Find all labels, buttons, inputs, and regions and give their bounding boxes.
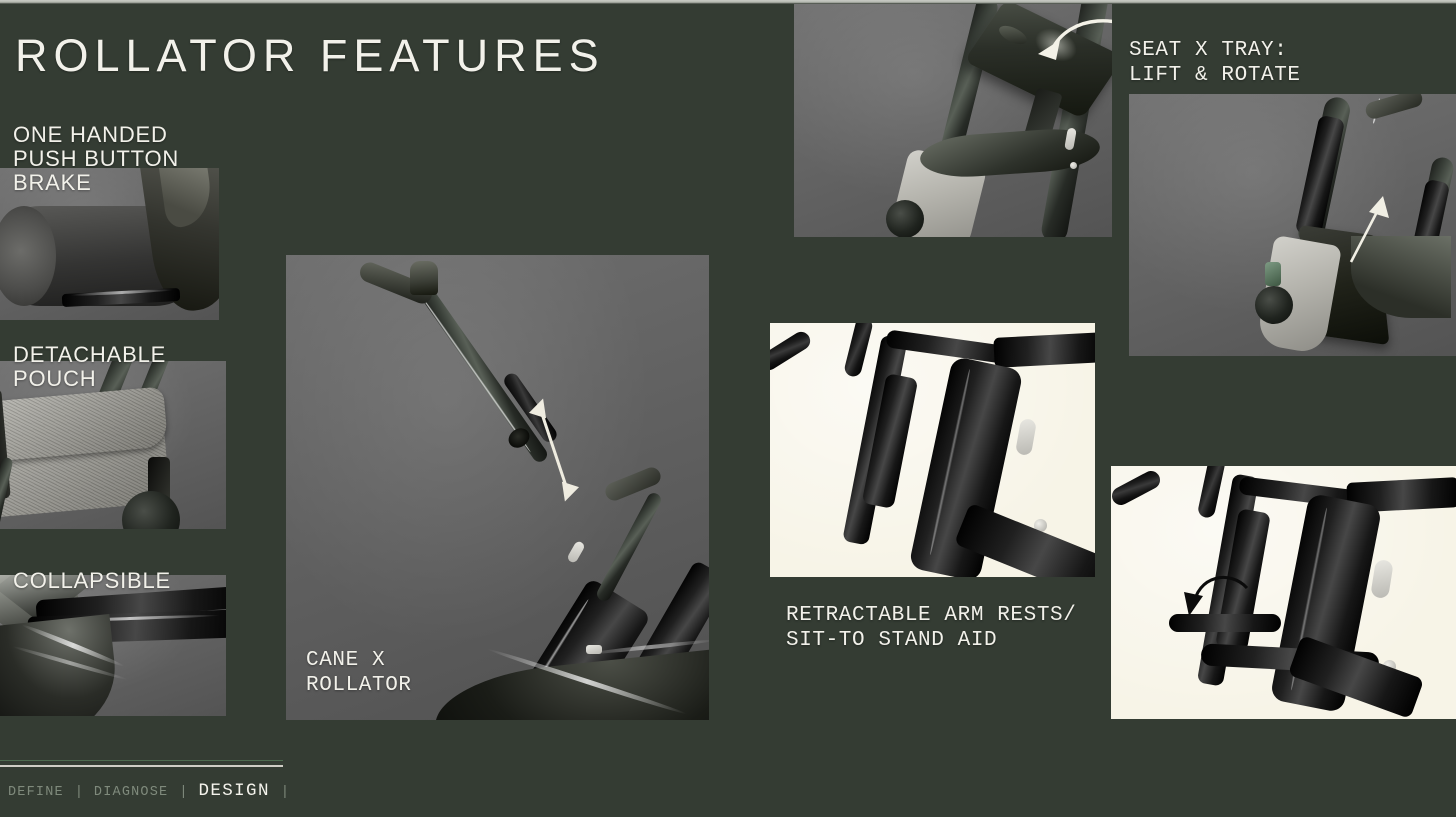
presentation-slide: ROLLATOR FEATURES ONE HANDED PUSH BUTTON… [0,0,1456,817]
armrest-grip-left [770,329,814,374]
straight-up-arrow [1337,190,1397,266]
image-panel-seat-lift [1129,94,1456,356]
window-top-edge [0,0,1456,4]
caption-collapsible: COLLAPSIBLE [13,569,171,593]
armrest-post-top [843,323,874,378]
frame-detail-button [586,645,602,654]
caption-cane-x-rollator: CANE X ROLLATOR [306,648,412,698]
rollator-handle-post [595,491,664,604]
curved-down-arrow [1183,564,1259,618]
armrest-pad-upper [993,332,1095,368]
cane-handle-joint [410,261,438,295]
breadcrumb-step-design[interactable]: DESIGN [198,781,269,801]
caption-retractable-arm-rests: RETRACTABLE ARM RESTS/ SIT-TO STAND AID [786,603,1076,653]
breadcrumb-step-define[interactable]: DEFINE [8,785,64,800]
double-headed-arrow [526,390,586,510]
breadcrumb-separator-trailing: | [270,785,289,800]
breadcrumb: DEFINE | DIAGNOSE | DESIGN | [8,781,289,801]
retract-release-button [1370,559,1394,599]
image-panel-collapsible-detail [0,575,226,716]
footer-rule [0,765,283,767]
caption-detachable-pouch: DETACHABLE POUCH [13,343,166,391]
seat-release-button [566,540,586,564]
rollator-grip-top [1364,94,1424,121]
image-panel-cane-detachment: CANE X ROLLATOR [286,255,709,720]
page-title: ROLLATOR FEATURES [15,33,605,78]
breadcrumb-step-diagnose[interactable]: DIAGNOSE [94,785,168,800]
seat-front-wheel [1255,286,1293,324]
curved-rotate-arrow [1034,8,1112,68]
caption-one-handed-push-button-brake: ONE HANDED PUSH BUTTON BRAKE [13,123,179,195]
folded-base [0,614,122,716]
image-panel-armrest-detail [770,323,1095,577]
frame-screw [1070,162,1077,169]
green-accent-detail [1265,262,1281,286]
front-caster-wheel [886,200,924,237]
breadcrumb-separator-1: | [64,785,94,800]
breadcrumb-separator-2: | [168,785,198,800]
retract-post-top [1197,466,1227,519]
image-panel-tray-rotation [794,4,1112,237]
footer-rule-accent [0,760,283,761]
image-panel-armrest-retract [1111,466,1456,719]
armrest-release-button [1015,418,1037,456]
retract-grip-left [1111,468,1163,508]
caption-seat-x-tray: SEAT X TRAY: LIFT & ROTATE [1129,38,1301,88]
